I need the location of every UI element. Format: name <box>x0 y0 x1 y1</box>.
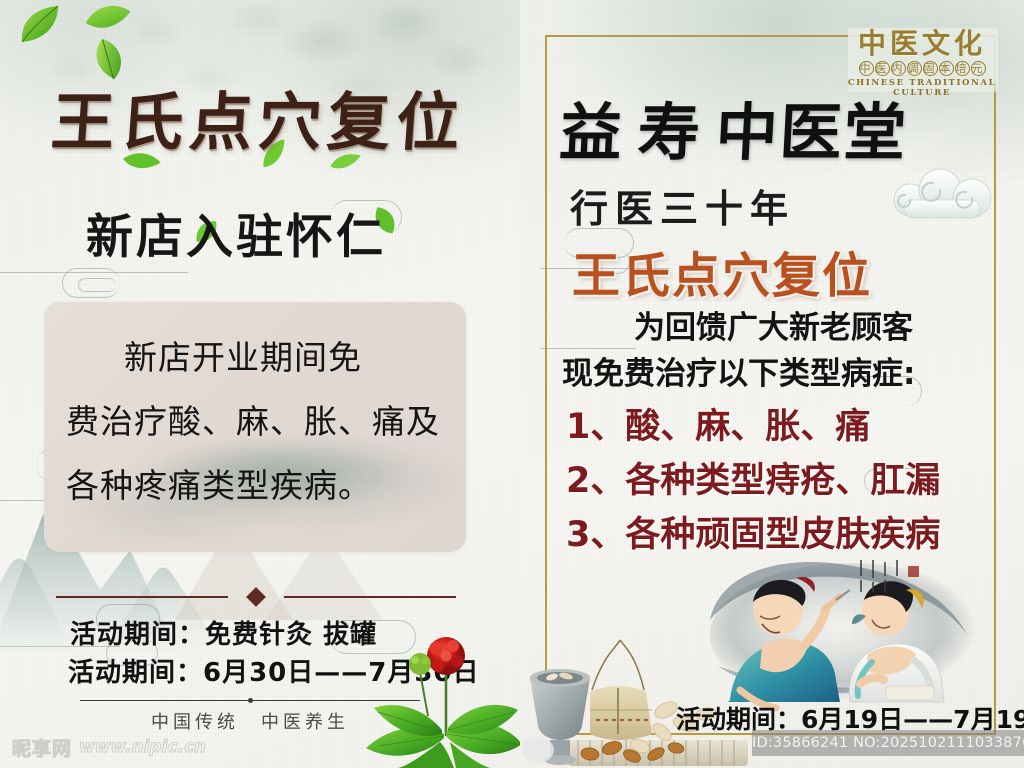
body-line-3: 各种疼痛类型疾病。 <box>66 454 444 518</box>
seal-sub-char: 培 <box>955 61 970 76</box>
page-title: 王氏点穴复位 <box>49 72 475 160</box>
right-lead-line-1: 为回馈广大新老顾客 <box>634 302 913 347</box>
left-subtitle: 新店入驻怀仁 <box>86 198 486 267</box>
seal-sub-char: 元 <box>971 61 986 76</box>
ruyi-curl-decoration <box>78 278 116 292</box>
right-list-item-1: 1、酸、麻、胀、痛 <box>566 398 870 449</box>
divider-bar-left <box>56 596 228 598</box>
left-body-text: 新店开业期间免 费治疗酸、麻、胀、痛及 各种疼痛类型疾病。 <box>44 302 466 552</box>
seal-sub-char: 固 <box>923 61 938 76</box>
seal-sub-char: 医 <box>875 61 890 76</box>
diamond-divider <box>56 590 456 604</box>
watermark-site-url: www.nipic.cn <box>79 737 206 757</box>
site-watermark: 昵享网 www.nipic.cn <box>12 734 242 760</box>
right-brand-title: 王氏点穴复位 <box>572 236 992 306</box>
seal-sub-char: 内 <box>891 61 906 76</box>
mortar-and-herbs-illustration <box>520 630 770 768</box>
seal-main-text: 中医文化 <box>840 28 1004 60</box>
left-body-card: 新店开业期间免 费治疗酸、麻、胀、痛及 各种疼痛类型疾病。 <box>44 302 466 552</box>
right-panel-title: 益寿中医堂 <box>558 82 983 174</box>
body-line-1: 新店开业期间免 <box>124 338 362 377</box>
image-id-watermark: ID:35866241 NO:20251021110338768103 <box>752 730 1024 756</box>
right-years-text: 行医三十年 <box>570 178 970 233</box>
poster-canvas: 王氏点穴复位 新店入驻怀仁 新店开业期间免 费治疗酸、麻、胀、痛及 各种疼痛类型… <box>0 0 1024 768</box>
seal-sub-char: 本 <box>939 61 954 76</box>
leaf-icon <box>18 2 64 52</box>
left-promo-line-1: 活动期间：免费针灸 拔罐 <box>70 614 377 651</box>
ginseng-plant-illustration <box>358 616 520 768</box>
right-panel: 中医文化 中医内调固本培元 CHINESE TRADITIONAL CULTUR… <box>520 0 1024 768</box>
body-line-2: 费治疗酸、麻、胀、痛及 <box>66 390 444 454</box>
right-title-part2: 中医堂 <box>714 96 910 169</box>
right-list-item-2: 2、各种类型痔疮、肛漏 <box>566 452 940 503</box>
divider-bar-right <box>284 596 456 598</box>
footer-rule-dot <box>248 698 253 703</box>
right-list-item-3: 3、各种顽固型皮肤疾病 <box>566 506 940 557</box>
seal-sub-char: 中 <box>859 61 874 76</box>
right-lead-line-2: 现免费治疗以下类型病症: <box>562 348 915 393</box>
left-panel: 王氏点穴复位 新店入驻怀仁 新店开业期间免 费治疗酸、麻、胀、痛及 各种疼痛类型… <box>0 0 520 768</box>
diamond-icon <box>246 587 266 607</box>
watermark-site-cn: 昵享网 <box>12 734 72 761</box>
right-title-part1: 益寿 <box>558 96 718 169</box>
seal-sub-char: 调 <box>907 61 922 76</box>
seal-sub-text: 中医内调固本培元 <box>840 61 1004 77</box>
